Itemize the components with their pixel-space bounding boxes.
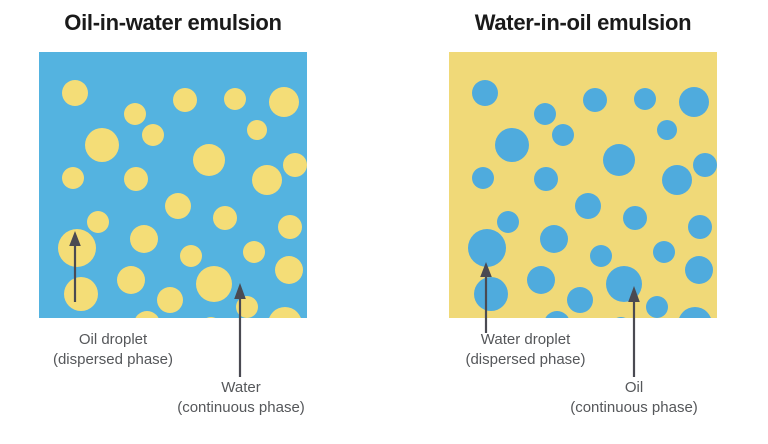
water-droplet: [688, 215, 712, 239]
oil-droplet: [87, 211, 109, 233]
water-droplet: [527, 266, 555, 294]
oil-droplet: [124, 167, 148, 191]
oil-droplet: [243, 241, 265, 263]
caption-oil-droplet: Oil droplet (dispersed phase): [38, 330, 188, 370]
oil-droplet: [130, 225, 158, 253]
water-droplet: [662, 165, 692, 195]
oil-droplet: [124, 103, 146, 125]
oil-droplet: [173, 88, 197, 112]
oil-droplet: [275, 256, 303, 284]
water-droplet: [590, 245, 612, 267]
oil-droplet: [117, 266, 145, 294]
water-droplet: [472, 80, 498, 106]
water-droplet: [583, 88, 607, 112]
caption-oil-droplet-line2: (dispersed phase): [38, 350, 188, 370]
water-droplet: [634, 88, 656, 110]
callout-arrow-water-droplet: [471, 259, 501, 335]
water-droplet: [540, 225, 568, 253]
caption-oil-droplet-line1: Oil droplet: [38, 330, 188, 350]
caption-water-droplet: Water droplet (dispersed phase): [444, 330, 607, 370]
water-droplet: [679, 87, 709, 117]
diagram-stage: Oil-in-water emulsion Water-in-oil emuls…: [0, 0, 768, 444]
oil-droplet: [62, 80, 88, 106]
caption-water-continuous-line2: (continuous phase): [165, 398, 317, 418]
callout-arrow-oil-continuous: [619, 282, 649, 379]
oil-droplet: [247, 120, 267, 140]
caption-water-continuous-line1: Water: [165, 378, 317, 398]
oil-droplet: [213, 206, 237, 230]
water-droplet: [472, 167, 494, 189]
oil-droplet: [269, 87, 299, 117]
oil-droplet: [283, 153, 307, 177]
panel-title-water-in-oil: Water-in-oil emulsion: [410, 10, 756, 36]
oil-droplet: [142, 124, 164, 146]
water-droplet: [552, 124, 574, 146]
water-droplet: [534, 103, 556, 125]
oil-droplet: [278, 215, 302, 239]
panel-title-oil-in-water: Oil-in-water emulsion: [0, 10, 346, 36]
water-droplet: [575, 193, 601, 219]
water-droplet: [495, 128, 529, 162]
water-droplet: [657, 120, 677, 140]
caption-oil-continuous-line2: (continuous phase): [558, 398, 710, 418]
oil-droplet: [252, 165, 282, 195]
oil-droplet: [62, 167, 84, 189]
water-droplet: [497, 211, 519, 233]
water-droplet: [685, 256, 713, 284]
callout-arrow-water-continuous: [225, 279, 255, 379]
oil-droplet: [180, 245, 202, 267]
oil-droplet: [193, 144, 225, 176]
caption-oil-continuous-line1: Oil: [558, 378, 710, 398]
water-droplet: [646, 296, 668, 318]
caption-water-droplet-line2: (dispersed phase): [444, 350, 607, 370]
oil-droplet: [157, 287, 183, 313]
water-droplet: [653, 241, 675, 263]
caption-water-continuous: Water (continuous phase): [165, 378, 317, 418]
water-droplet: [603, 144, 635, 176]
water-droplet: [567, 287, 593, 313]
water-droplet: [534, 167, 558, 191]
water-droplet: [544, 311, 570, 318]
oil-droplet: [134, 311, 160, 318]
water-droplet: [623, 206, 647, 230]
oil-droplet: [165, 193, 191, 219]
caption-oil-continuous: Oil (continuous phase): [558, 378, 710, 418]
water-droplet: [693, 153, 717, 177]
oil-droplet: [85, 128, 119, 162]
oil-droplet: [224, 88, 246, 110]
caption-water-droplet-line1: Water droplet: [444, 330, 607, 350]
callout-arrow-oil-droplet: [60, 228, 90, 304]
oil-droplet: [268, 307, 302, 318]
water-droplet: [678, 307, 712, 318]
oil-droplet: [200, 317, 222, 318]
